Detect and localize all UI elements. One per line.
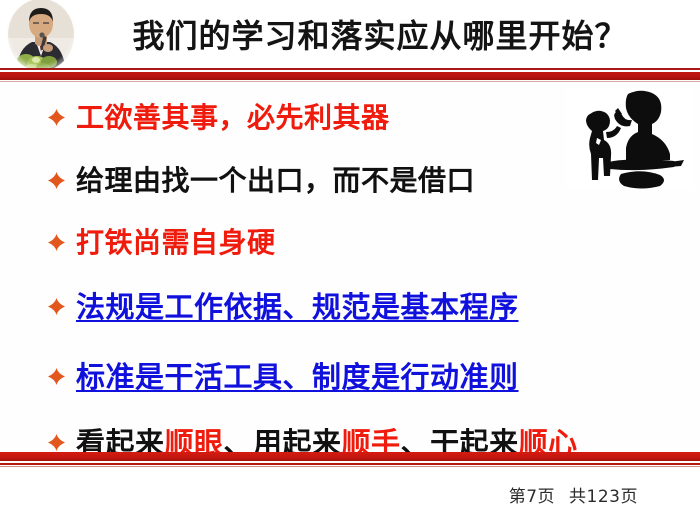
four-point-star-icon — [48, 434, 65, 451]
page-indicator: 第7页共123页 — [509, 482, 638, 507]
divider-thick-bottom — [0, 452, 700, 461]
current-page-label: 第7页 — [509, 487, 555, 507]
four-point-star-icon — [48, 109, 65, 126]
divider-thick-top — [0, 72, 700, 80]
total-page-label: 共123页 — [569, 487, 638, 507]
four-point-star-icon — [48, 234, 65, 251]
list-item-text: 给理由找一个出口，而不是借口 — [76, 159, 475, 199]
page-title: 我们的学习和落实应从哪里开始？ — [100, 6, 660, 62]
list-item-text: 法规是工作依据、规范是基本程序 — [76, 284, 519, 326]
header-divider-bar — [0, 68, 700, 84]
slide-footer: 第7页共123页 — [0, 470, 700, 525]
divider-hairline-bottom — [0, 81, 700, 82]
list-item-text: 打铁尚需自身硬 — [76, 221, 276, 261]
four-point-star-icon — [48, 172, 65, 189]
list-item[interactable]: 法规是工作依据、规范是基本程序 — [48, 284, 519, 326]
list-item-text: 工欲善其事，必先利其器 — [76, 96, 390, 136]
speaker-photo — [6, 0, 76, 72]
slide-header: 我们的学习和落实应从哪里开始？ — [0, 0, 700, 70]
four-point-star-icon — [48, 368, 65, 385]
list-item[interactable]: 给理由找一个出口，而不是借口 — [48, 159, 475, 199]
slide-canvas: 我们的学习和落实应从哪里开始？ — [0, 0, 700, 525]
four-point-star-icon — [48, 298, 65, 315]
list-item[interactable]: 标准是干活工具、制度是行动准则 — [48, 354, 519, 396]
bullet-list: 工欲善其事，必先利其器 给理由找一个出口，而不是借口 打铁尚需自身硬 — [0, 86, 700, 450]
list-item[interactable]: 打铁尚需自身硬 — [48, 221, 276, 261]
list-item-text: 标准是干活工具、制度是行动准则 — [76, 354, 519, 396]
divider-hairline-bottom-2 — [0, 466, 700, 467]
footer-divider-bar — [0, 452, 700, 470]
list-item[interactable]: 工欲善其事，必先利其器 — [48, 96, 390, 136]
